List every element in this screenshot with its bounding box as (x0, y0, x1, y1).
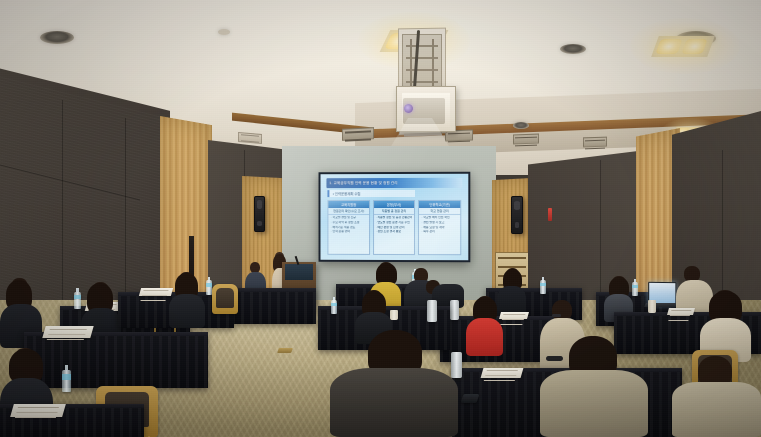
wall-speaker-right (511, 196, 523, 234)
slide-column-body: · 학교별 결원 및 신규 · 수요 파악 후 정원 조정 · 배치기준 적용 … (329, 215, 369, 254)
attendee-body (672, 382, 761, 437)
emergency-wall-marker (548, 208, 552, 221)
ceiling-slot-vent (513, 134, 539, 145)
smartphone[interactable] (461, 394, 480, 403)
attendee (466, 296, 504, 356)
slide-bullet: · 직종별 정원 및 증감 현황관리 (376, 216, 413, 220)
attendee-body (540, 370, 648, 437)
round-recessed-light (218, 29, 230, 35)
banquet-chair[interactable] (212, 284, 238, 314)
ceiling-slot-vent (342, 127, 374, 141)
slide-title-text: 1. 교육공무직원 인력 운용 현황 및 정원 관리 (326, 181, 397, 186)
slide-columns: 교육지원청 현원관리 확인(수요 조사) · 학교별 결원 및 신규 · 수요 … (328, 200, 461, 255)
projector-scissor-lift (402, 34, 442, 92)
round-recessed-light (40, 31, 74, 44)
attendee-foreground (330, 330, 460, 437)
projection-screen[interactable]: 1. 교육공무직원 인력 운용 현황 및 정원 관리 ▪ 인력운용계획 수립 교… (319, 172, 471, 263)
slide-bullet: · 배치기준 적용 검토 (331, 226, 367, 230)
ceiling-air-diffuser (238, 132, 262, 144)
round-recessed-light (560, 44, 586, 54)
slide-subtitle: ▪ 인력운용계획 수립 (328, 190, 415, 197)
attendee (168, 272, 206, 328)
head-table (232, 288, 316, 324)
slide-bullet: · 예산 편성 및 집행 관리 (376, 226, 413, 230)
slide-column-header-text: 본청(부서) (387, 202, 401, 207)
slide-column-body: · 학교별 배치 인원 확인 · 결원 발생 시 보고 · 채용 요청 및 계약… (419, 215, 459, 255)
round-recessed-light (513, 122, 529, 129)
slide-bullet: · 정원 조정 결과 통보 (376, 230, 413, 234)
handout-paper (42, 326, 93, 338)
slide-column-body: · 직종별 정원 및 증감 현황관리 · 연도별 정원 운영 기준 수립 · 예… (374, 215, 415, 254)
slide-column-header-text: 교육지원청 (341, 202, 356, 207)
slide-bullet: · 인력 운용 협의 (331, 230, 367, 234)
water-bottle (331, 300, 337, 314)
slide-column-lead: 직종별 총 정원 관리 (374, 208, 415, 215)
slide-column-lead-text: 학교 현원 관리 (430, 209, 448, 213)
projection-screen-surface: 1. 교육공무직원 인력 운용 현황 및 정원 관리 ▪ 인력운용계획 수립 교… (321, 174, 469, 260)
stainless-tumbler (450, 300, 459, 320)
slide-column: 단위학교(기관) 학교 현원 관리 · 학교별 배치 인원 확인 · 결원 발생… (418, 200, 460, 255)
slide-bullet: · 복무 관리 (421, 230, 457, 234)
slide-column-header-text: 단위학교(기관) (429, 202, 450, 207)
slide-column-header: 본청(부서) (374, 201, 415, 208)
attendee-body (330, 368, 458, 437)
wall-speaker-left (254, 196, 265, 232)
eyeglasses (552, 314, 561, 317)
slide-column-lead: 학교 현원 관리 (419, 208, 459, 215)
attendee-foreground-right (540, 336, 650, 437)
slide-column-lead-text: 직종별 총 정원 관리 (382, 209, 407, 213)
handout-paper (10, 404, 66, 417)
attendee-body (169, 294, 205, 328)
ceiling-slot-vent (583, 137, 607, 148)
slide-column-header: 단위학교(기관) (419, 201, 459, 208)
chair-seat-pad (216, 288, 235, 308)
slide-bullet: · 결원 발생 시 보고 (421, 221, 457, 225)
water-bottle (62, 370, 71, 392)
slide-bullet: · 연도별 정원 운영 기준 수립 (376, 221, 413, 225)
twin-downlight (651, 36, 715, 57)
seminar-room-photo: 1. 교육공무직원 인력 운용 현황 및 정원 관리 ▪ 인력운용계획 수립 교… (0, 0, 761, 437)
paper-cup (648, 300, 656, 313)
slide-column-lead-text: 현원관리 확인(수요 조사) (333, 209, 364, 213)
slide-column-header: 교육지원청 (329, 201, 369, 208)
water-bottle (540, 280, 546, 294)
slide-subtitle-text: ▪ 인력운용계획 수립 (330, 191, 361, 196)
scissor-arms (406, 39, 438, 87)
attendee-body (466, 318, 503, 356)
table-skirt (232, 292, 316, 324)
slide-bullet: · 수요 파악 후 정원 조정 (331, 221, 367, 225)
attendee-foreground-far-right (672, 356, 761, 437)
slide-title-bar: 1. 교육공무직원 인력 운용 현황 및 정원 관리 (326, 178, 462, 188)
handout-paper (667, 308, 695, 315)
slide-bullet: · 학교별 결원 및 신규 (331, 216, 367, 220)
floor-service-box (277, 348, 293, 353)
podium-front-panel (285, 264, 313, 280)
handout-paper (481, 368, 524, 378)
projector-lens (404, 104, 413, 113)
slide-column: 본청(부서) 직종별 총 정원 관리 · 직종별 정원 및 증감 현황관리 · … (373, 200, 416, 255)
slide-column-lead: 현원관리 확인(수요 조사) (329, 208, 369, 215)
stainless-tumbler (427, 300, 437, 322)
slide-bullet: · 학교별 배치 인원 확인 (421, 216, 457, 220)
slide-bullet: · 채용 요청 및 계약 (421, 226, 457, 230)
eyeglasses (546, 356, 563, 361)
slide-column: 교육지원청 현원관리 확인(수요 조사) · 학교별 결원 및 신규 · 수요 … (328, 200, 370, 255)
